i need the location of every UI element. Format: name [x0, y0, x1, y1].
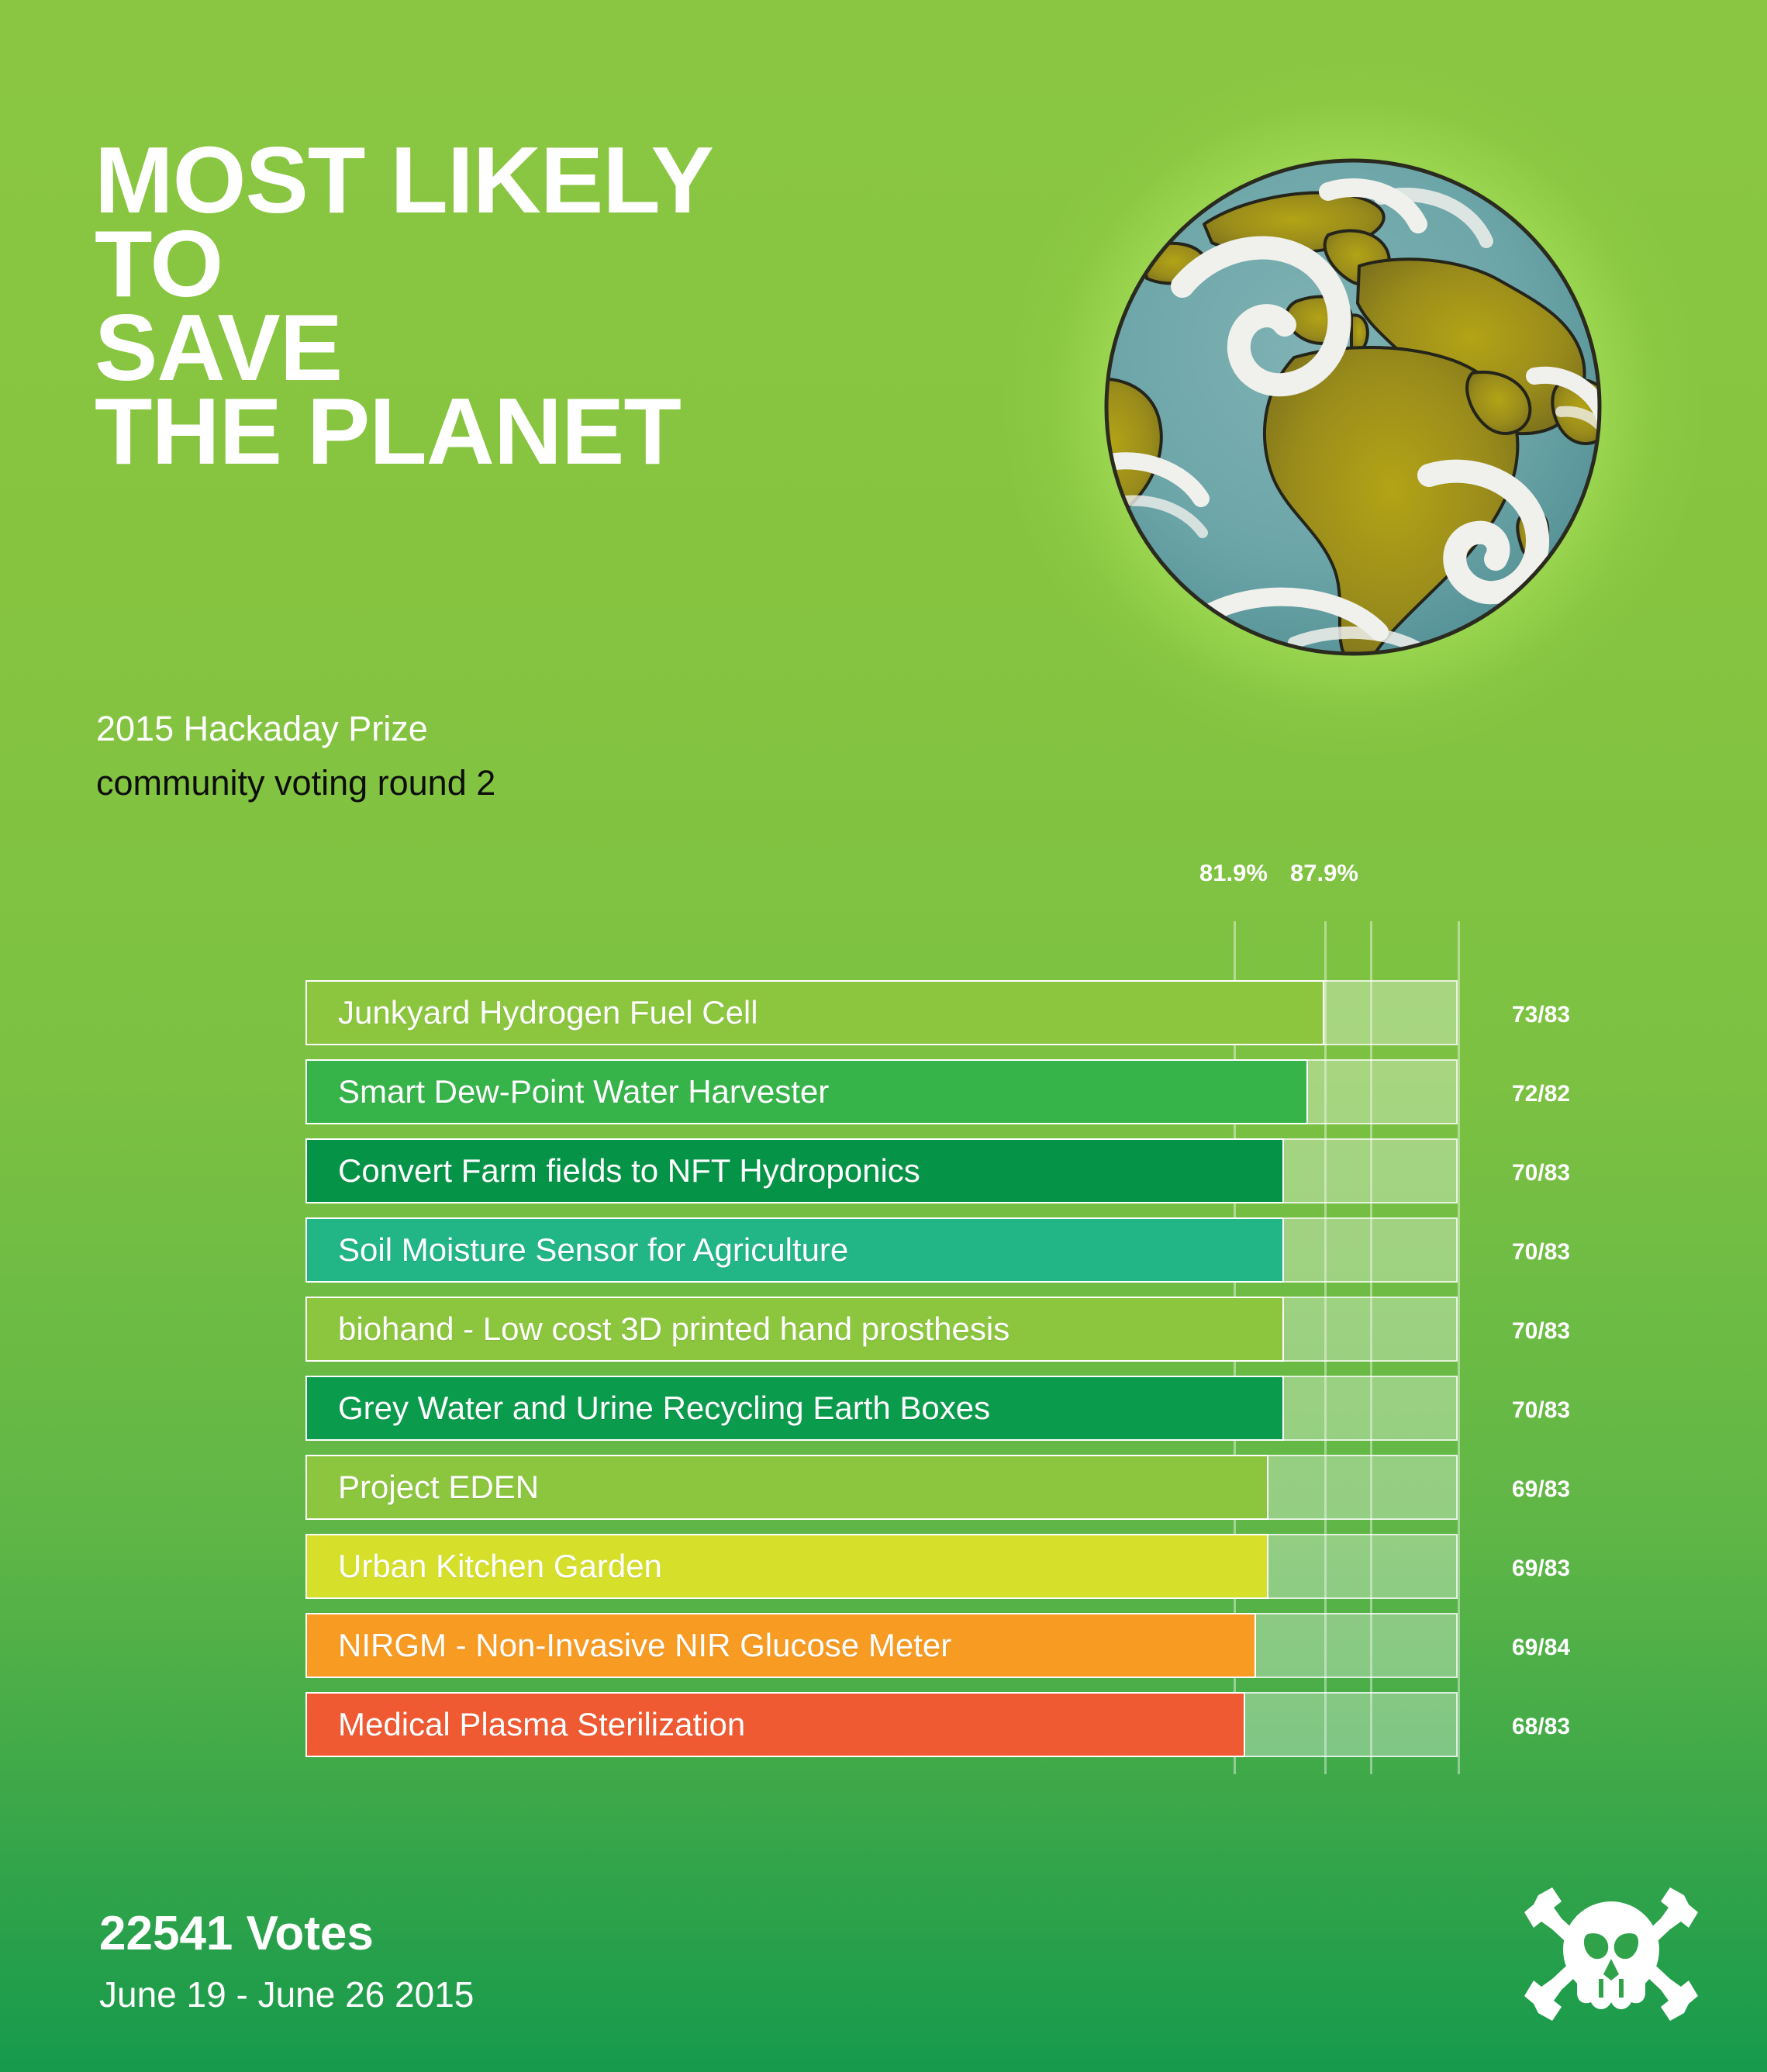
bar-row: Grey Water and Urine Recycling Earth Box… [0, 1371, 1767, 1450]
bar-row: Medical Plasma Sterilization68/83 [0, 1687, 1767, 1766]
vote-count: 70/83 [1512, 1213, 1570, 1292]
bar-row: Urban Kitchen Garden69/83 [0, 1529, 1767, 1608]
bar-row: Project EDEN69/83 [0, 1450, 1767, 1529]
bar-fill[interactable]: Junkyard Hydrogen Fuel Cell [305, 980, 1324, 1045]
vote-count: 70/83 [1512, 1134, 1570, 1213]
title-line-2: TO [95, 222, 986, 306]
bar-label: Junkyard Hydrogen Fuel Cell [307, 994, 758, 1031]
bar-label: Soil Moisture Sensor for Agriculture [307, 1231, 848, 1269]
title-line-3: SAVE [95, 306, 986, 389]
vote-count: 69/84 [1512, 1608, 1570, 1687]
bar-label: biohand - Low cost 3D printed hand prost… [307, 1311, 1009, 1348]
earth-globe-illustration [1004, 58, 1702, 756]
bar-row: Soil Moisture Sensor for Agriculture70/8… [0, 1213, 1767, 1292]
bar-label: Grey Water and Urine Recycling Earth Box… [307, 1390, 990, 1427]
total-votes: 22541 Votes [99, 1906, 374, 1961]
bar-fill[interactable]: Convert Farm fields to NFT Hydroponics [305, 1138, 1284, 1203]
bar-fill[interactable]: Smart Dew-Point Water Harvester [305, 1059, 1308, 1124]
bar-row: Convert Farm fields to NFT Hydroponics70… [0, 1134, 1767, 1213]
vote-count: 69/83 [1512, 1450, 1570, 1529]
hackaday-skull-wrenches-logo [1510, 1884, 1712, 2024]
vote-date-range: June 19 - June 26 2015 [99, 1974, 474, 2015]
vote-count: 68/83 [1512, 1687, 1570, 1766]
bar-fill[interactable]: Soil Moisture Sensor for Agriculture [305, 1217, 1284, 1283]
bar-label: Medical Plasma Sterilization [307, 1706, 745, 1743]
bar-fill[interactable]: Urban Kitchen Garden [305, 1534, 1268, 1599]
bar-row: biohand - Low cost 3D printed hand prost… [0, 1292, 1767, 1371]
bar-label: Convert Farm fields to NFT Hydroponics [307, 1152, 920, 1190]
subtitle: 2015 Hackaday Prize community voting rou… [96, 702, 495, 810]
globe-icon [1096, 150, 1611, 665]
bar-fill[interactable]: NIRGM - Non-Invasive NIR Glucose Meter [305, 1613, 1256, 1678]
subtitle-prize: 2015 Hackaday Prize [96, 702, 495, 756]
title-line-1: MOST LIKELY [95, 138, 986, 222]
subtitle-round: community voting round 2 [96, 756, 495, 810]
vote-results-chart: 81.9% 87.9% Junkyard Hydrogen Fuel Cell7… [0, 853, 1767, 1846]
title-line-4: THE PLANET [95, 389, 986, 473]
footer: 22541 Votes June 19 - June 26 2015 [0, 1892, 1767, 2072]
vote-count: 69/83 [1512, 1529, 1570, 1608]
chart-axis-labels: 81.9% 87.9% [0, 853, 1767, 900]
axis-tick-label-0: 81.9% [1199, 859, 1268, 887]
bar-label: Urban Kitchen Garden [307, 1548, 662, 1585]
bar-label: Project EDEN [307, 1469, 539, 1506]
bar-label: Smart Dew-Point Water Harvester [307, 1073, 829, 1110]
bar-fill[interactable]: Medical Plasma Sterilization [305, 1692, 1245, 1757]
bar-label: NIRGM - Non-Invasive NIR Glucose Meter [307, 1627, 951, 1664]
bar-rows: Junkyard Hydrogen Fuel Cell73/83Smart De… [0, 976, 1767, 1766]
page-title: MOST LIKELY TO SAVE THE PLANET [95, 138, 986, 473]
bar-fill[interactable]: Grey Water and Urine Recycling Earth Box… [305, 1376, 1284, 1441]
vote-count: 70/83 [1512, 1292, 1570, 1371]
bar-fill[interactable]: Project EDEN [305, 1455, 1268, 1520]
axis-tick-label-1: 87.9% [1290, 859, 1358, 887]
bar-row: NIRGM - Non-Invasive NIR Glucose Meter69… [0, 1608, 1767, 1687]
bar-row: Smart Dew-Point Water Harvester72/82 [0, 1055, 1767, 1134]
header: MOST LIKELY TO SAVE THE PLANET 2015 Hack… [0, 0, 1767, 822]
bar-row: Junkyard Hydrogen Fuel Cell73/83 [0, 976, 1767, 1055]
vote-count: 72/82 [1512, 1055, 1570, 1134]
bar-fill[interactable]: biohand - Low cost 3D printed hand prost… [305, 1297, 1284, 1362]
vote-count: 70/83 [1512, 1371, 1570, 1450]
vote-count: 73/83 [1512, 976, 1570, 1055]
